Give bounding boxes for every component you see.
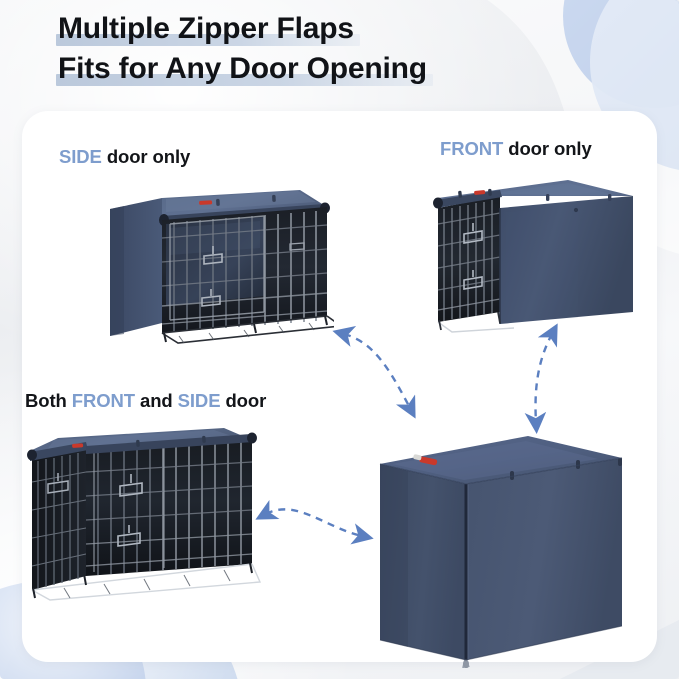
arrow-both-to-closed: [252, 492, 382, 562]
panel-label-side-suffix: door only: [102, 146, 190, 167]
crate3-top-strap-1: [136, 440, 140, 447]
crate1-top-strap-2: [272, 195, 276, 202]
panel-label-front-door-only: FRONT door only: [440, 138, 592, 160]
crate3-roll-end-front: [247, 433, 257, 444]
crate2-side-grommet: [574, 208, 578, 212]
crate-image-side-door-only: [104, 176, 334, 346]
arrow-front-to-closed: [518, 322, 588, 438]
title-line-1-text: Multiple Zipper Flaps: [58, 12, 354, 45]
panel-label-both-accent2: SIDE: [178, 390, 221, 411]
crate2-roll-end: [433, 198, 443, 209]
panel-label-front-accent: FRONT: [440, 138, 503, 159]
crate-image-fully-closed: [368, 428, 633, 668]
crate2-side-strap-1: [546, 194, 549, 201]
panel-label-both-doors: Both FRONT and SIDE door: [25, 390, 266, 412]
crate3-top-strap-2: [202, 436, 206, 443]
crate2-top-strap-2: [488, 189, 492, 196]
crate-image-front-door-only: [428, 172, 648, 337]
panel-label-side-accent: SIDE: [59, 146, 102, 167]
panel-label-side-door-only: SIDE door only: [59, 146, 190, 168]
crate1-left-cover-shade: [110, 206, 124, 336]
crate4-right-face-hi: [478, 469, 558, 658]
title-line-2-text: Fits for Any Door Opening: [58, 52, 427, 85]
crate1-brand-tag: [199, 200, 212, 205]
panel-label-both-part2: and: [135, 390, 178, 411]
crate3-roll-end-left: [27, 450, 37, 461]
title-line-1: Multiple Zipper Flaps: [56, 14, 356, 44]
crate4-left-face-shade: [380, 464, 408, 647]
crate3-brand-tag: [72, 443, 83, 448]
arrow-front-path: [536, 334, 552, 422]
crate1-top-strap-1: [216, 199, 220, 206]
arrow-side-path: [344, 334, 410, 408]
infographic-root: Multiple Zipper Flaps Fits for Any Door …: [0, 0, 679, 679]
crate-image-both-doors: [24, 424, 262, 602]
panel-label-both-accent1: FRONT: [72, 390, 135, 411]
header: Multiple Zipper Flaps Fits for Any Door …: [0, 0, 679, 110]
panel-label-front-suffix: door only: [503, 138, 591, 159]
panel-label-both-part1: Both: [25, 390, 72, 411]
arrow-both-path: [266, 509, 362, 536]
crate4-strap-3: [618, 458, 622, 466]
crate2-side-strap-2: [608, 194, 611, 201]
title-line-2: Fits for Any Door Opening: [56, 54, 429, 84]
crate2-side-cover-hi: [506, 206, 578, 322]
panel-label-both-part3: door: [220, 390, 266, 411]
arrow-side-to-closed: [318, 318, 438, 428]
